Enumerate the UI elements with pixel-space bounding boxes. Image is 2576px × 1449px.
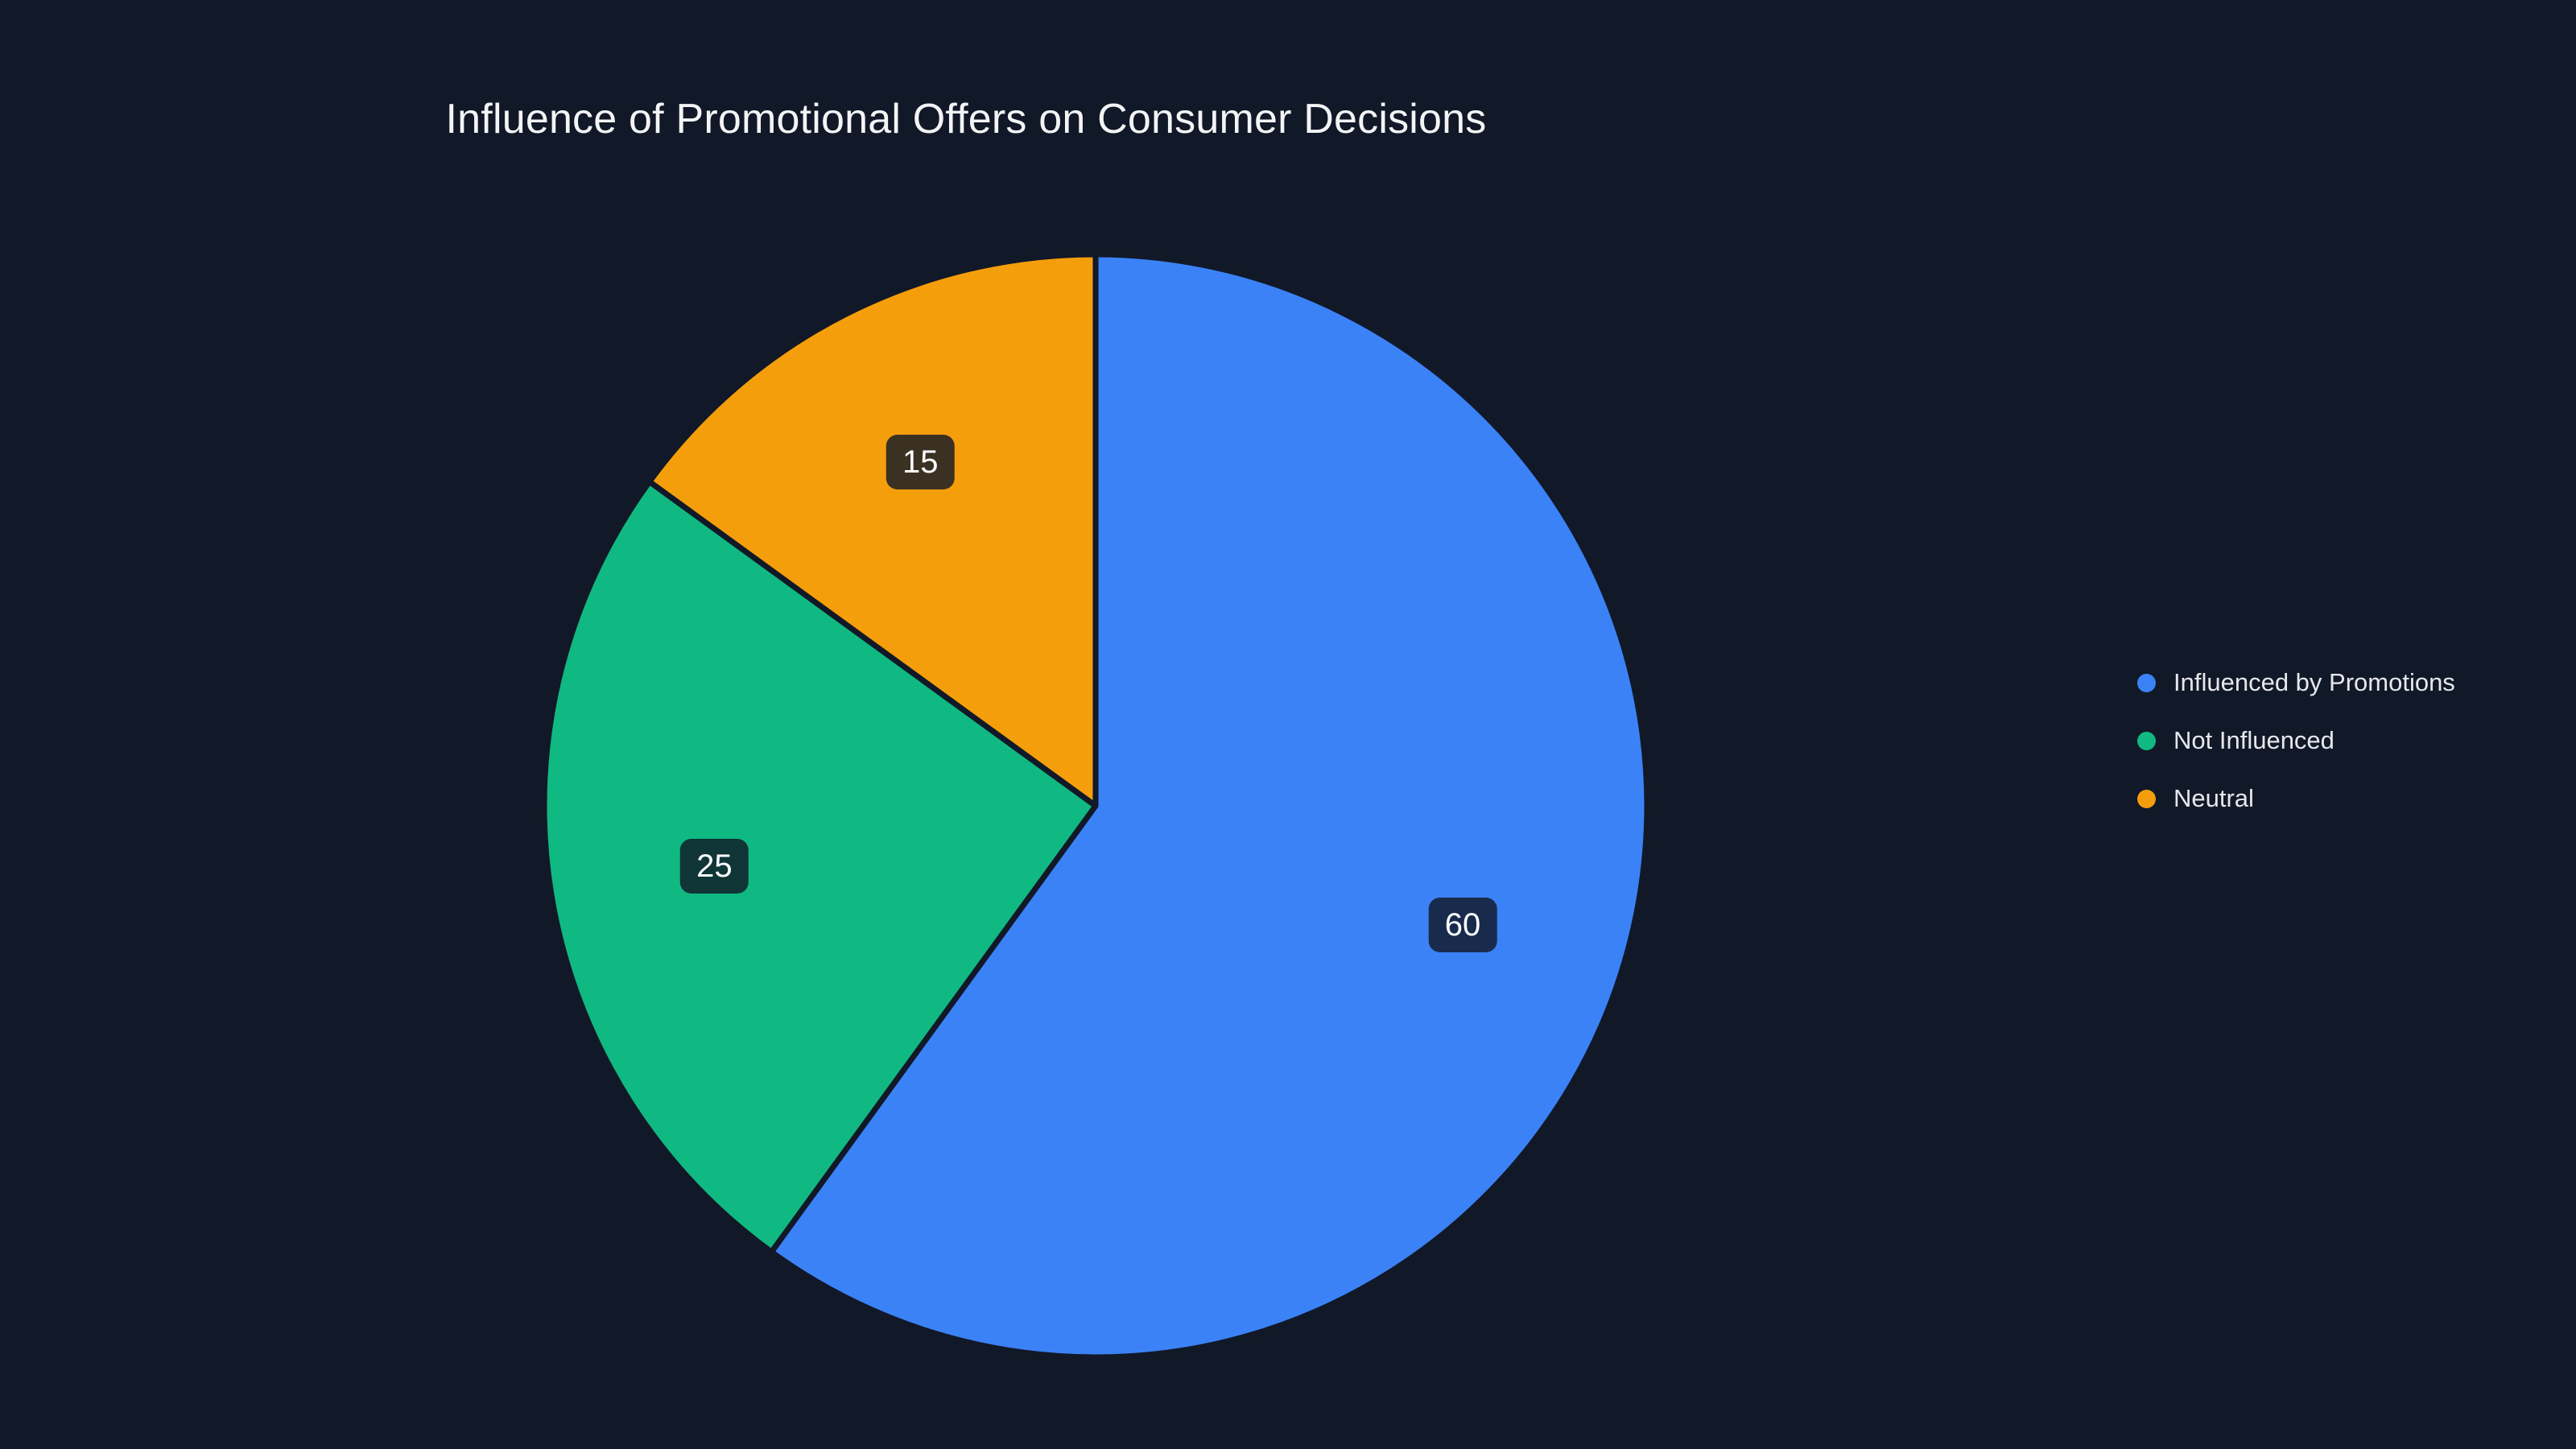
slice-value-label: 25 xyxy=(680,839,749,894)
slice-value-label: 15 xyxy=(886,435,955,489)
pie-slices-group xyxy=(544,254,1647,1357)
legend-item[interactable]: Not Influenced xyxy=(2137,712,2455,770)
pie-chart-figure: Influence of Promotional Offers on Consu… xyxy=(0,0,2576,1449)
legend-swatch-icon xyxy=(2137,674,2156,692)
legend-swatch-icon xyxy=(2137,790,2156,808)
legend-item-label: Not Influenced xyxy=(2173,726,2334,755)
slice-value-label: 60 xyxy=(1429,898,1497,952)
legend: Influenced by PromotionsNot InfluencedNe… xyxy=(2137,654,2455,828)
legend-swatch-icon xyxy=(2137,732,2156,750)
legend-item-label: Influenced by Promotions xyxy=(2173,668,2455,697)
legend-item[interactable]: Influenced by Promotions xyxy=(2137,654,2455,712)
legend-item[interactable]: Neutral xyxy=(2137,770,2455,828)
legend-item-label: Neutral xyxy=(2173,784,2254,813)
